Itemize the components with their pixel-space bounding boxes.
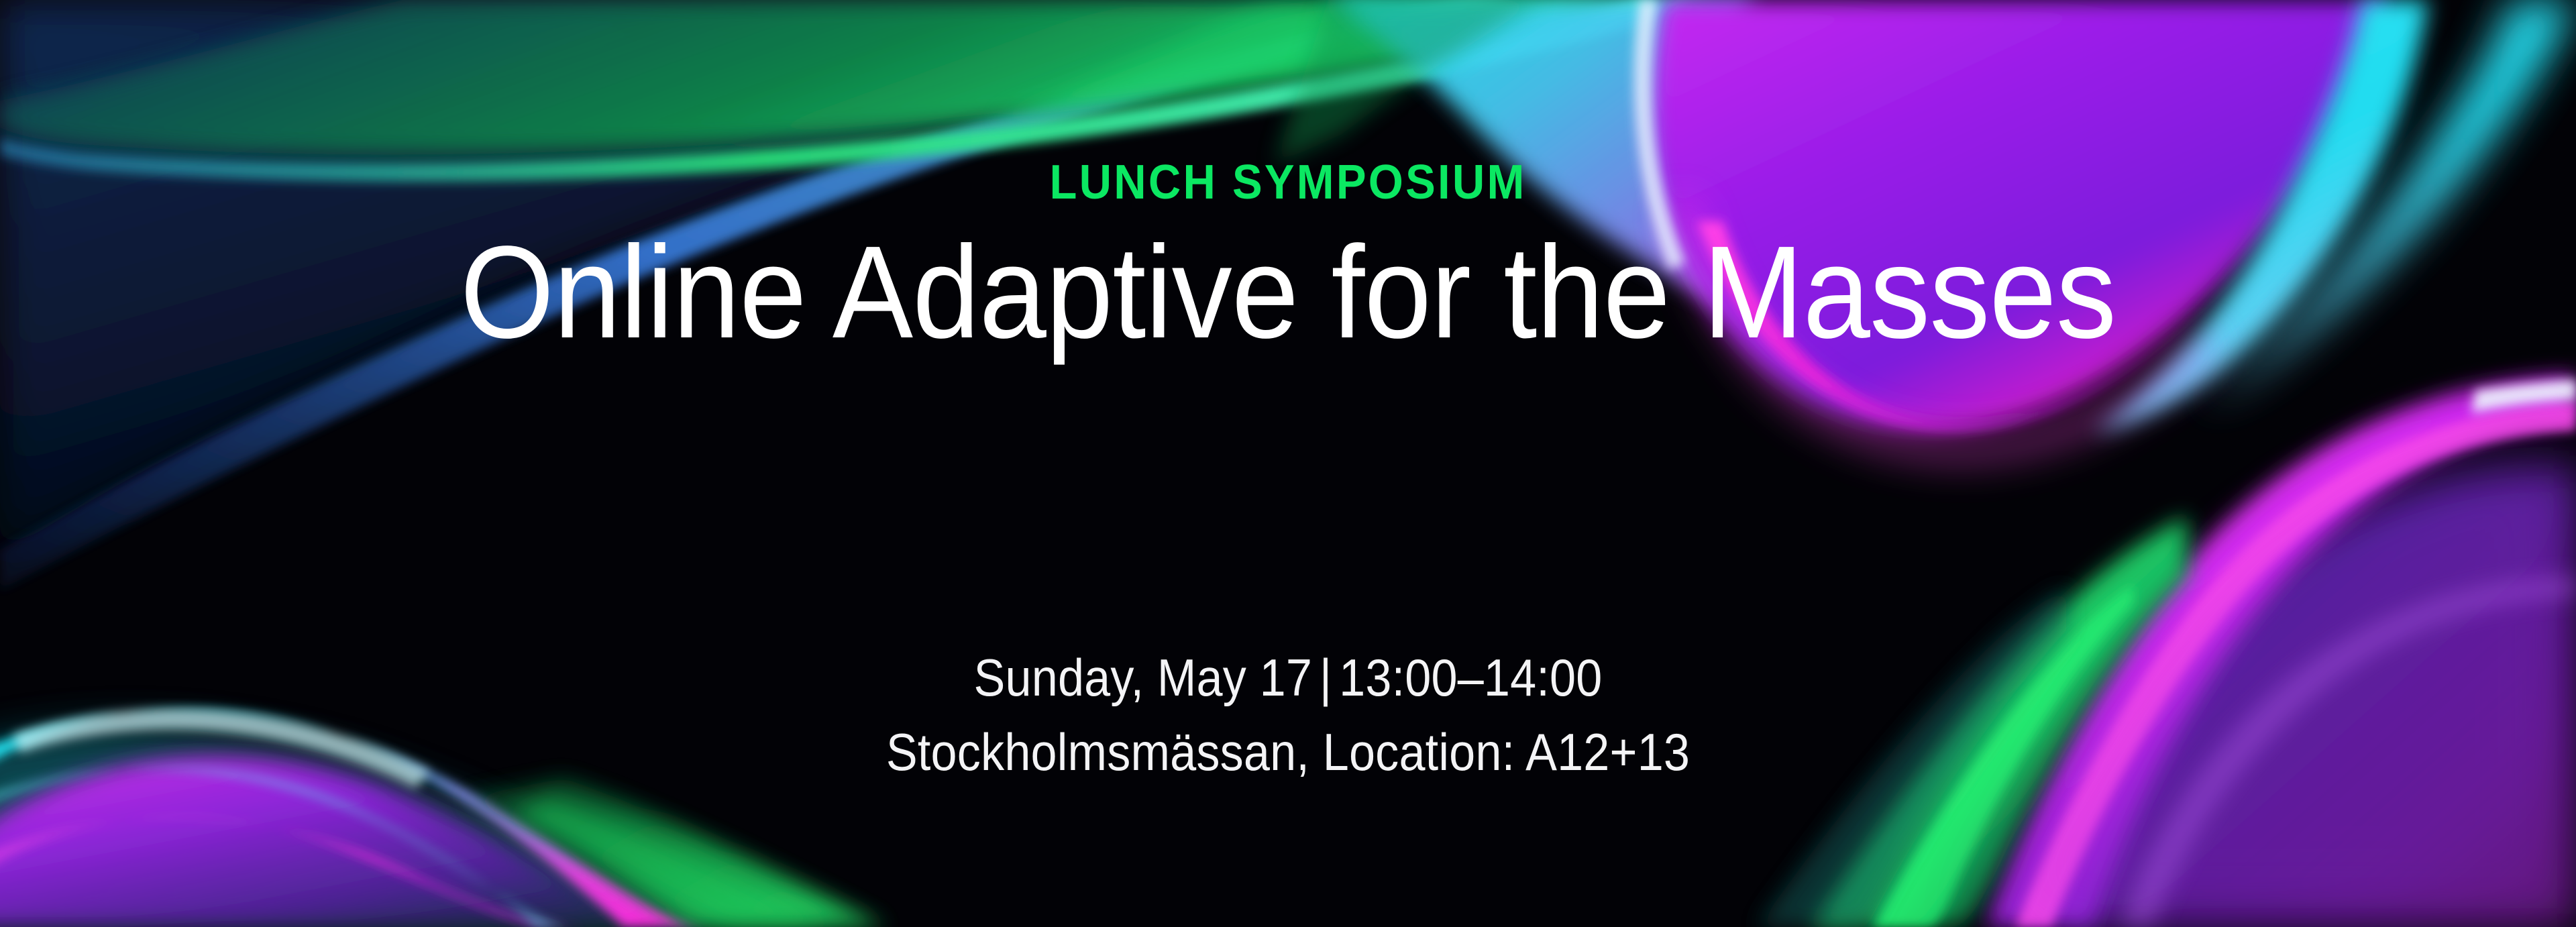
banner-content: LUNCH SYMPOSIUM Online Adaptive for the … [0,0,2576,927]
event-venue-line: Stockholmsmässan, Location: A12+13 [129,715,2447,789]
page-title: Online Adaptive for the Masses [103,221,2473,364]
eyebrow-label: LUNCH SYMPOSIUM [90,158,2485,207]
event-day-date: Sunday, May 17 [973,648,1312,707]
detail-separator: | [1312,641,1339,715]
symposium-banner: LUNCH SYMPOSIUM Online Adaptive for the … [0,0,2576,927]
event-details: Sunday, May 17|13:00–14:00 Stockholmsmäs… [129,641,2447,789]
event-time-range: 13:00–14:00 [1339,648,1602,707]
event-date-line: Sunday, May 17|13:00–14:00 [129,641,2447,715]
